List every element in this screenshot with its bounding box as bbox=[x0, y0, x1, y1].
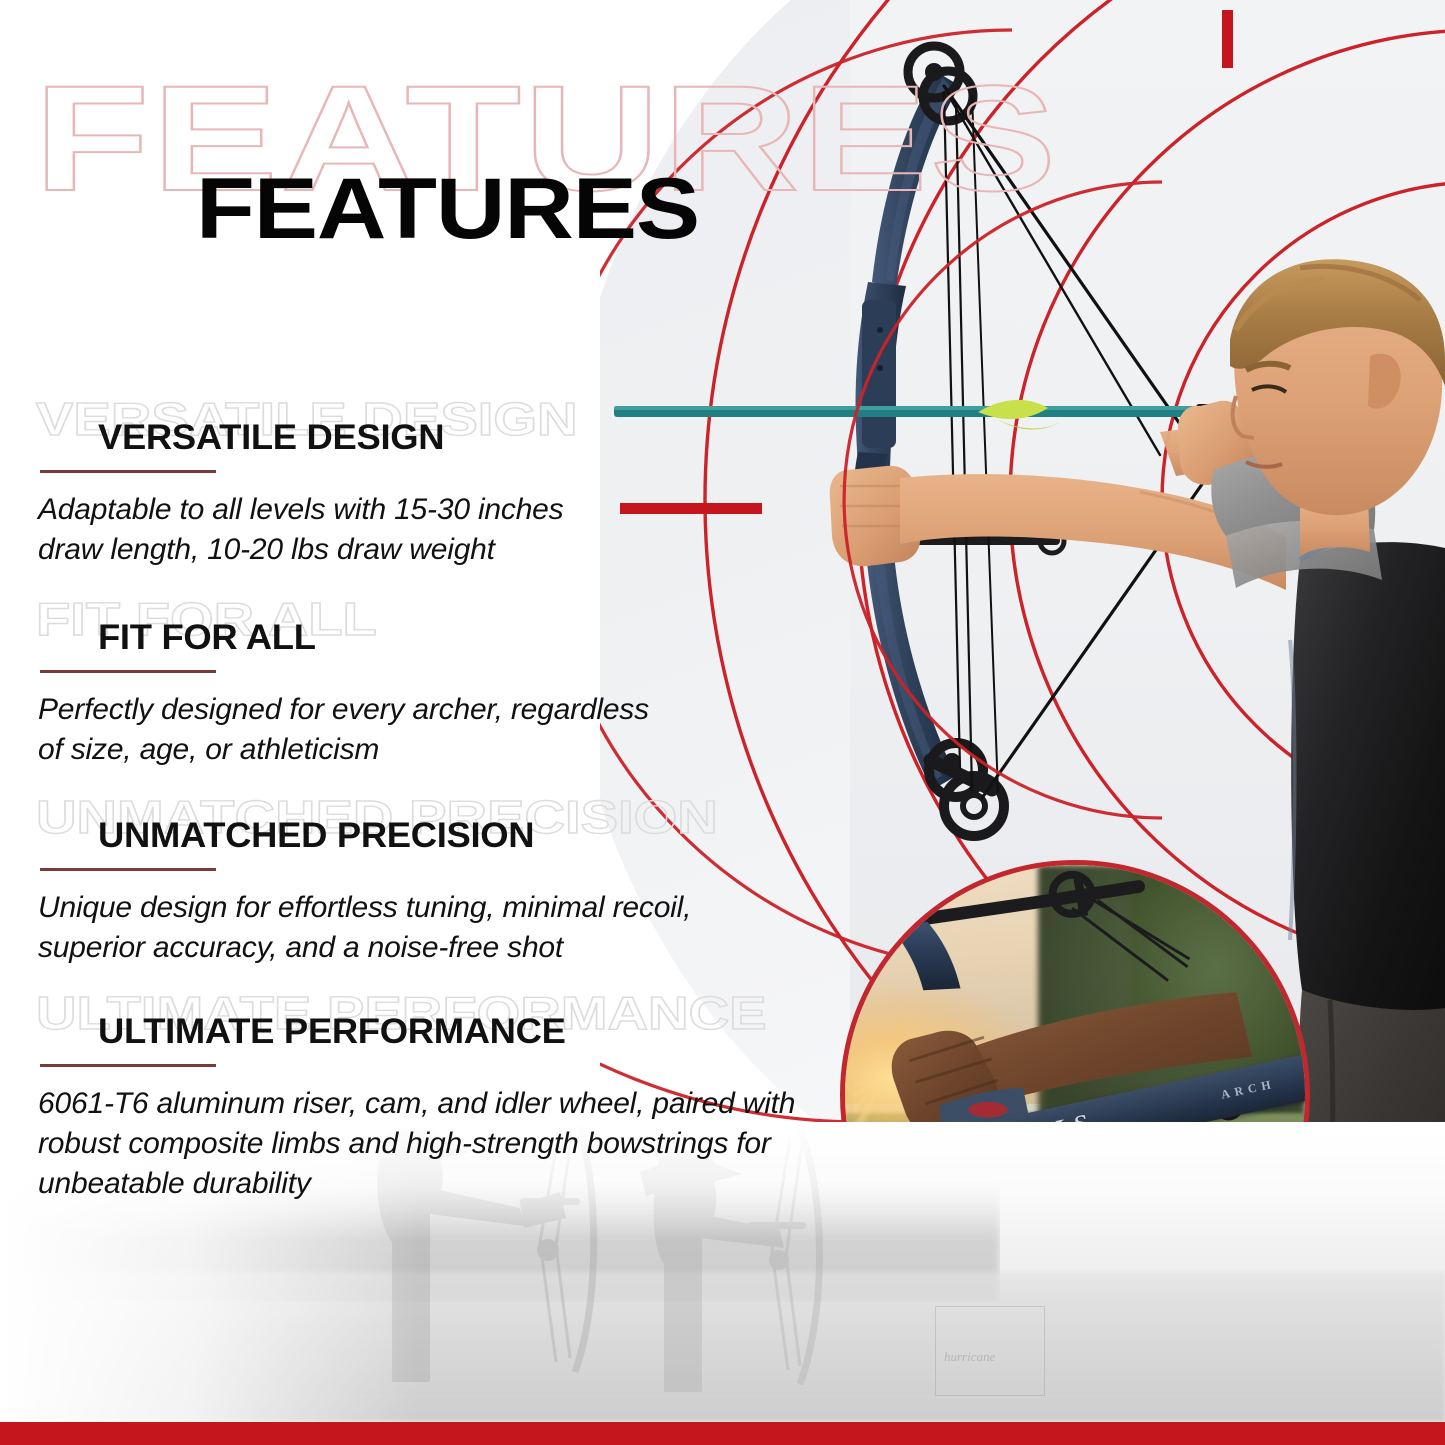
feature-underline bbox=[40, 670, 216, 673]
feature-heading: FIT FOR ALL bbox=[98, 618, 316, 658]
features-content-column: FEATURES FEATURES VERSATILE DESIGN VERSA… bbox=[0, 0, 830, 1445]
feature-body: Adaptable to all levels with 15-30 inche… bbox=[38, 490, 598, 570]
feature-underline bbox=[40, 868, 216, 871]
feature-underline bbox=[40, 470, 216, 473]
feature-body: Perfectly designed for every archer, reg… bbox=[38, 690, 678, 770]
hurricane-watermark-label: hurricane bbox=[944, 1349, 995, 1365]
infographic-canvas: GENESIS ARCH GENESIS AR bbox=[0, 0, 1445, 1445]
feature-heading: ULTIMATE PERFORMANCE bbox=[98, 1012, 566, 1052]
inset-brand-top-sub: ARCH bbox=[1220, 1077, 1277, 1103]
feature-body: Unique design for effortless tuning, min… bbox=[38, 888, 718, 968]
feature-heading: UNMATCHED PRECISION bbox=[98, 816, 534, 856]
feature-heading: VERSATILE DESIGN bbox=[98, 418, 444, 458]
feature-body: 6061-T6 aluminum riser, cam, and idler w… bbox=[38, 1084, 808, 1204]
hurricane-watermark: hurricane bbox=[935, 1306, 1045, 1396]
page-title: FEATURES bbox=[196, 160, 699, 259]
feature-underline bbox=[40, 1064, 216, 1067]
crosshair-tick-top bbox=[1222, 10, 1233, 68]
